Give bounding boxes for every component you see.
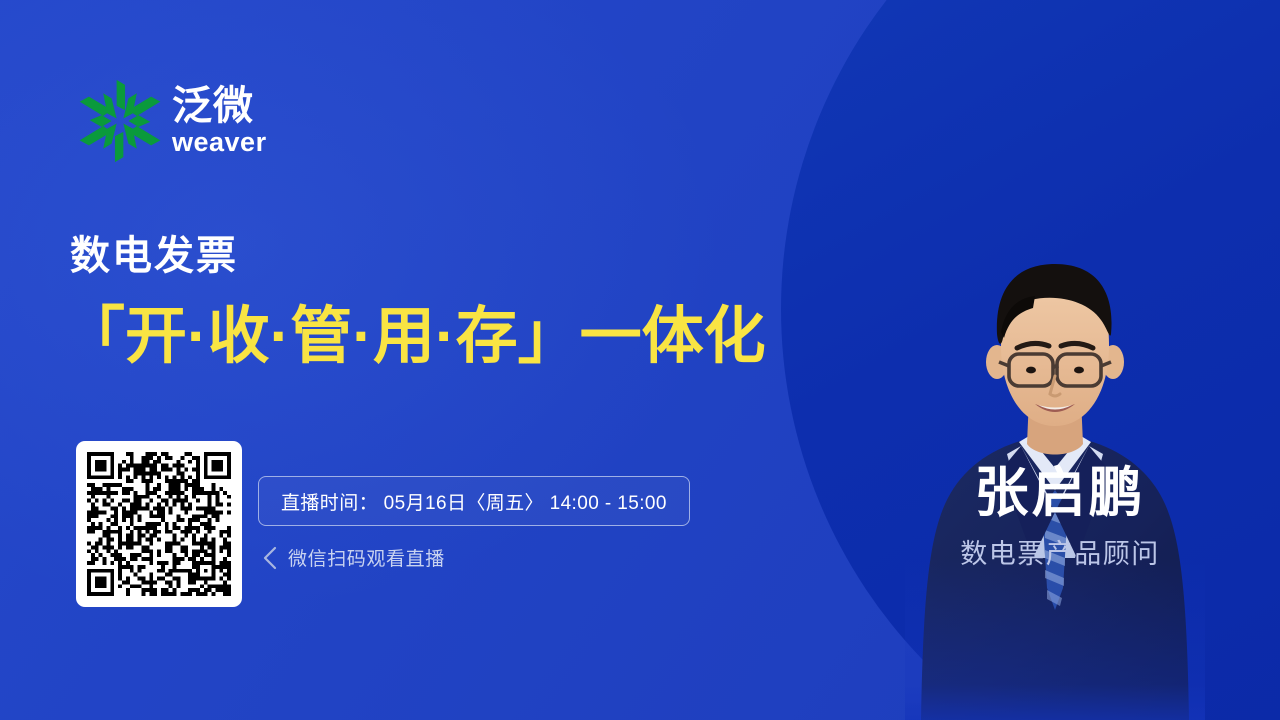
qr-code[interactable] <box>87 452 231 596</box>
brand-name-en: weaver <box>172 129 267 156</box>
speaker-name: 张启鹏 <box>880 466 1240 520</box>
brand-wordmark: 泛微 weaver <box>172 86 267 156</box>
live-promo-poster: 泛微 weaver 数电发票 「开·收·管·用·存」一体化 直播时间： 05月1… <box>0 0 1280 720</box>
brand-name-cn: 泛微 <box>172 86 254 126</box>
live-time-badge: 直播时间： 05月16日〈周五〉 14:00 - 15:00 <box>258 476 690 526</box>
scan-hint: 微信扫码观看直播 <box>262 544 445 571</box>
chevron-left-icon <box>262 546 278 570</box>
speaker-info: 张启鹏 数电票产品顾问 <box>880 0 1240 720</box>
headline-kicker: 数电发票 <box>70 236 238 276</box>
qr-code-card[interactable] <box>76 441 242 607</box>
brand-logo: 泛微 weaver <box>78 78 267 164</box>
speaker-title: 数电票产品顾问 <box>880 541 1240 568</box>
background-circle-decoration <box>781 0 1280 720</box>
headline-main: 「开·收·管·用·存」一体化 <box>63 306 766 368</box>
weaver-snowflake-logo-icon <box>78 78 162 164</box>
scan-hint-label: 微信扫码观看直播 <box>288 544 445 571</box>
live-time-text: 直播时间： 05月16日〈周五〉 14:00 - 15:00 <box>281 488 667 515</box>
speaker-portrait <box>905 258 1205 720</box>
